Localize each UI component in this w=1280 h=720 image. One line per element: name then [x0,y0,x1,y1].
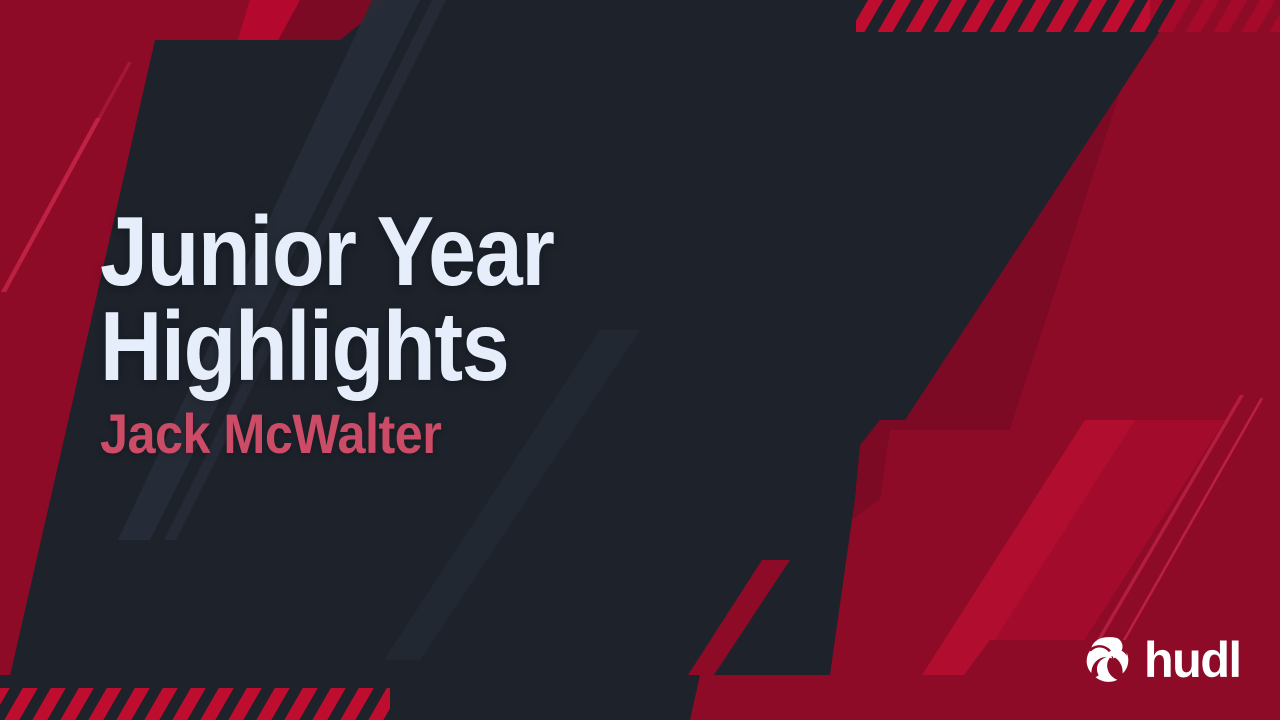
title-line-2: Highlights [100,299,663,394]
hudl-wordmark: hudl [1144,635,1241,685]
title-card: Junior Year Highlights Jack McWalter hud… [0,0,1280,720]
subtitle-player-name: Jack McWalter [100,406,676,462]
hudl-logo: hudl [1082,634,1244,686]
stripe-band-bottom-left-overlay [0,688,390,720]
hudl-triskelion-icon [1082,634,1134,686]
stripe-band-top-right [856,0,1280,32]
title-text-block: Junior Year Highlights Jack McWalter [100,204,740,462]
title-line-1: Junior Year [100,204,663,299]
